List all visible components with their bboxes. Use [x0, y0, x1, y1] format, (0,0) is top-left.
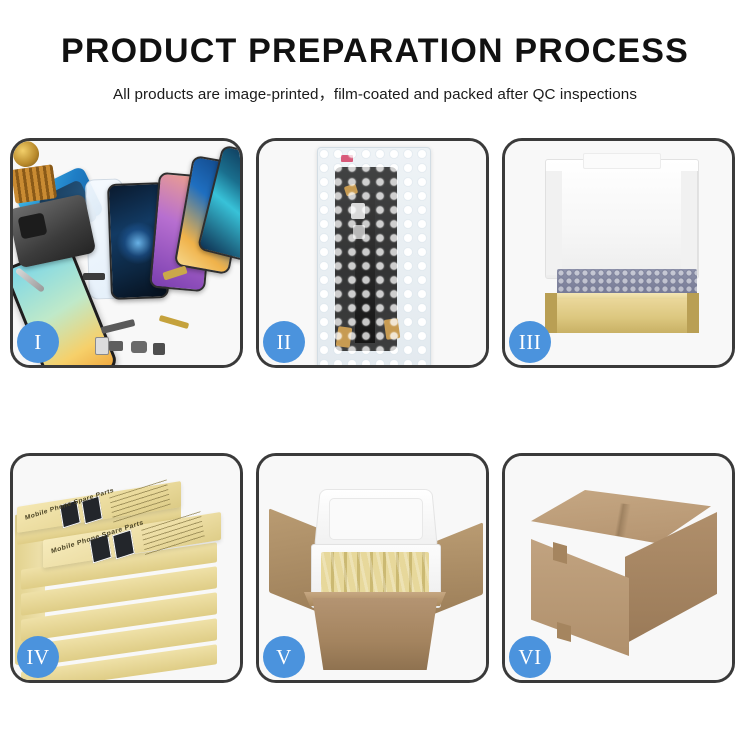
step-badge-3: III	[509, 321, 551, 363]
step-panel-5: V	[256, 453, 489, 683]
flex-cable-gold-icon	[159, 315, 189, 329]
battery-strip-icon	[83, 273, 105, 280]
carton-tape-lower-icon	[557, 622, 571, 642]
gold-box-left-edge-icon	[545, 293, 557, 333]
page-subtitle: All products are image-printed，film-coat…	[0, 82, 750, 104]
tape-bottom-left-icon	[336, 326, 353, 348]
lcd-connector-a-icon	[351, 203, 365, 219]
page-title: PRODUCT PREPARATION PROCESS	[0, 34, 750, 70]
gold-box-front-icon	[545, 299, 699, 333]
lid-left-fold-icon	[545, 171, 562, 275]
step-badge-1: I	[17, 321, 59, 363]
tape-bottom-right-icon	[384, 318, 401, 340]
white-foam-lid-icon	[545, 159, 699, 279]
step-badge-6: VI	[509, 636, 551, 678]
lid-right-fold-icon	[681, 171, 698, 275]
step-badge-4: IV	[17, 636, 59, 678]
header: PRODUCT PREPARATION PROCESS All products…	[0, 0, 750, 104]
flex-cable-icon	[101, 319, 136, 334]
foam-lid-inner-icon	[329, 498, 423, 540]
camera-module-icon	[131, 341, 147, 353]
carton-body-icon	[307, 598, 443, 670]
carton-front-face-icon	[531, 526, 629, 656]
process-step-grid: I II	[10, 138, 740, 686]
carton-tape-upper-icon	[553, 542, 567, 564]
chip-grid-icon	[13, 164, 57, 204]
product-preparation-banner: PRODUCT PREPARATION PROCESS All products…	[0, 0, 750, 750]
phone-back-cover-icon	[13, 194, 96, 269]
sim-tray-icon	[95, 337, 109, 355]
step-panel-3: III	[502, 138, 735, 368]
speaker-coil-icon	[13, 141, 41, 169]
qc-sticker-icon	[341, 155, 353, 162]
packed-boxes-highlight-icon	[321, 552, 429, 598]
step-panel-1: I	[10, 138, 243, 368]
step-panel-6: VI	[502, 453, 735, 683]
gold-box-right-edge-icon	[687, 293, 699, 333]
vibrator-motor-icon	[153, 343, 165, 355]
step-panel-2: II	[256, 138, 489, 368]
lcd-connector-b-icon	[353, 225, 365, 239]
step-badge-2: II	[263, 321, 305, 363]
small-part-icon	[109, 341, 123, 351]
lid-tab-icon	[583, 153, 661, 169]
step-panel-4: Mobile Phone Spare Parts Mobile Phone Sp…	[10, 453, 243, 683]
step-badge-5: V	[263, 636, 305, 678]
